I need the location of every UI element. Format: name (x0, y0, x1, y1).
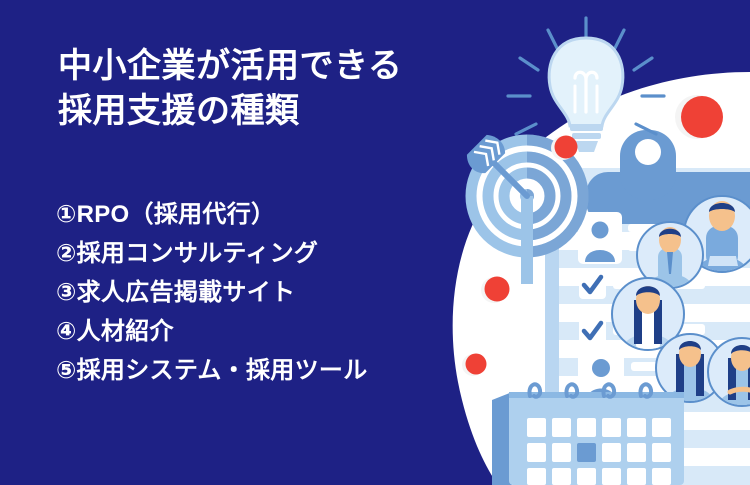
red-dot-icon (675, 95, 723, 139)
list-item-4: ④人材紹介 (56, 313, 466, 352)
checkmark-icon (579, 272, 606, 299)
title-line-1: 中小企業が活用できる (58, 44, 458, 89)
numbered-list: ①RPO（採用代行） ②採用コンサルティング ③求人広告掲載サイト ④人材紹介 … (56, 196, 466, 390)
slide-canvas: 中小企業が活用できる 採用支援の種類 ①RPO（採用代行） ②採用コンサルティン… (0, 0, 750, 485)
list-item-5: ⑤採用システム・採用ツール (56, 352, 466, 391)
list-item-1: ①RPO（採用代行） (56, 196, 466, 235)
text-column: 中小企業が活用できる 採用支援の種類 ①RPO（採用代行） ②採用コンサルティン… (0, 0, 470, 485)
title-line-2: 採用支援の種類 (58, 89, 458, 134)
list-item-3: ③求人広告掲載サイト (56, 274, 466, 313)
list-item-2: ②採用コンサルティング (56, 235, 466, 274)
page-title: 中小企業が活用できる 採用支援の種類 (58, 44, 458, 134)
calendar-highlighted-day (577, 443, 596, 462)
checkmark-icon (579, 318, 606, 345)
person-silhouette-icon (578, 212, 622, 264)
calendar-icon (492, 384, 684, 485)
